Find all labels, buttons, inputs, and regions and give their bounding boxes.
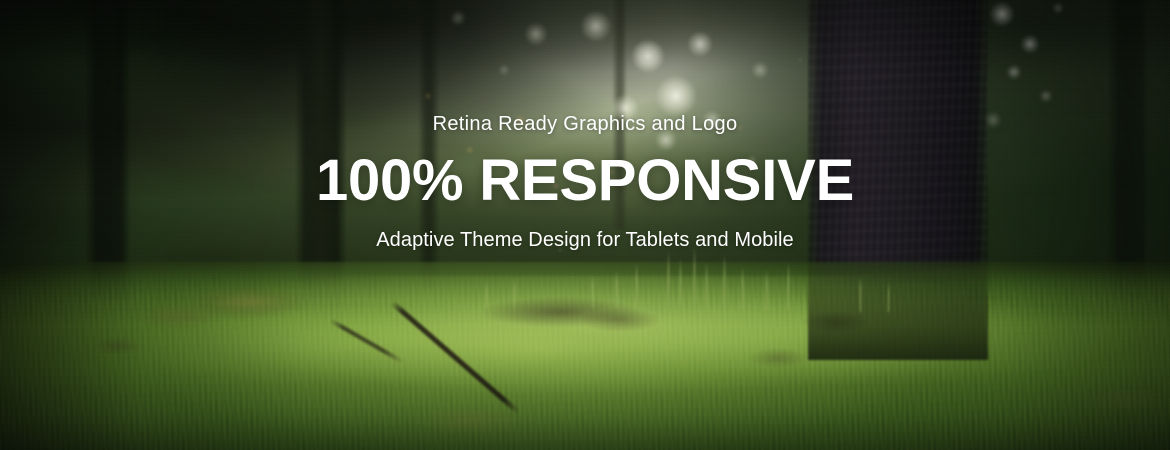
hero-copy: Retina Ready Graphics and Logo 100% RESP…	[0, 0, 1170, 450]
hero-subline: Adaptive Theme Design for Tablets and Mo…	[376, 230, 793, 250]
hero-eyebrow: Retina Ready Graphics and Logo	[433, 114, 738, 134]
hero-headline: 100% RESPONSIVE	[316, 152, 854, 210]
hero-banner: Retina Ready Graphics and Logo 100% RESP…	[0, 0, 1170, 450]
